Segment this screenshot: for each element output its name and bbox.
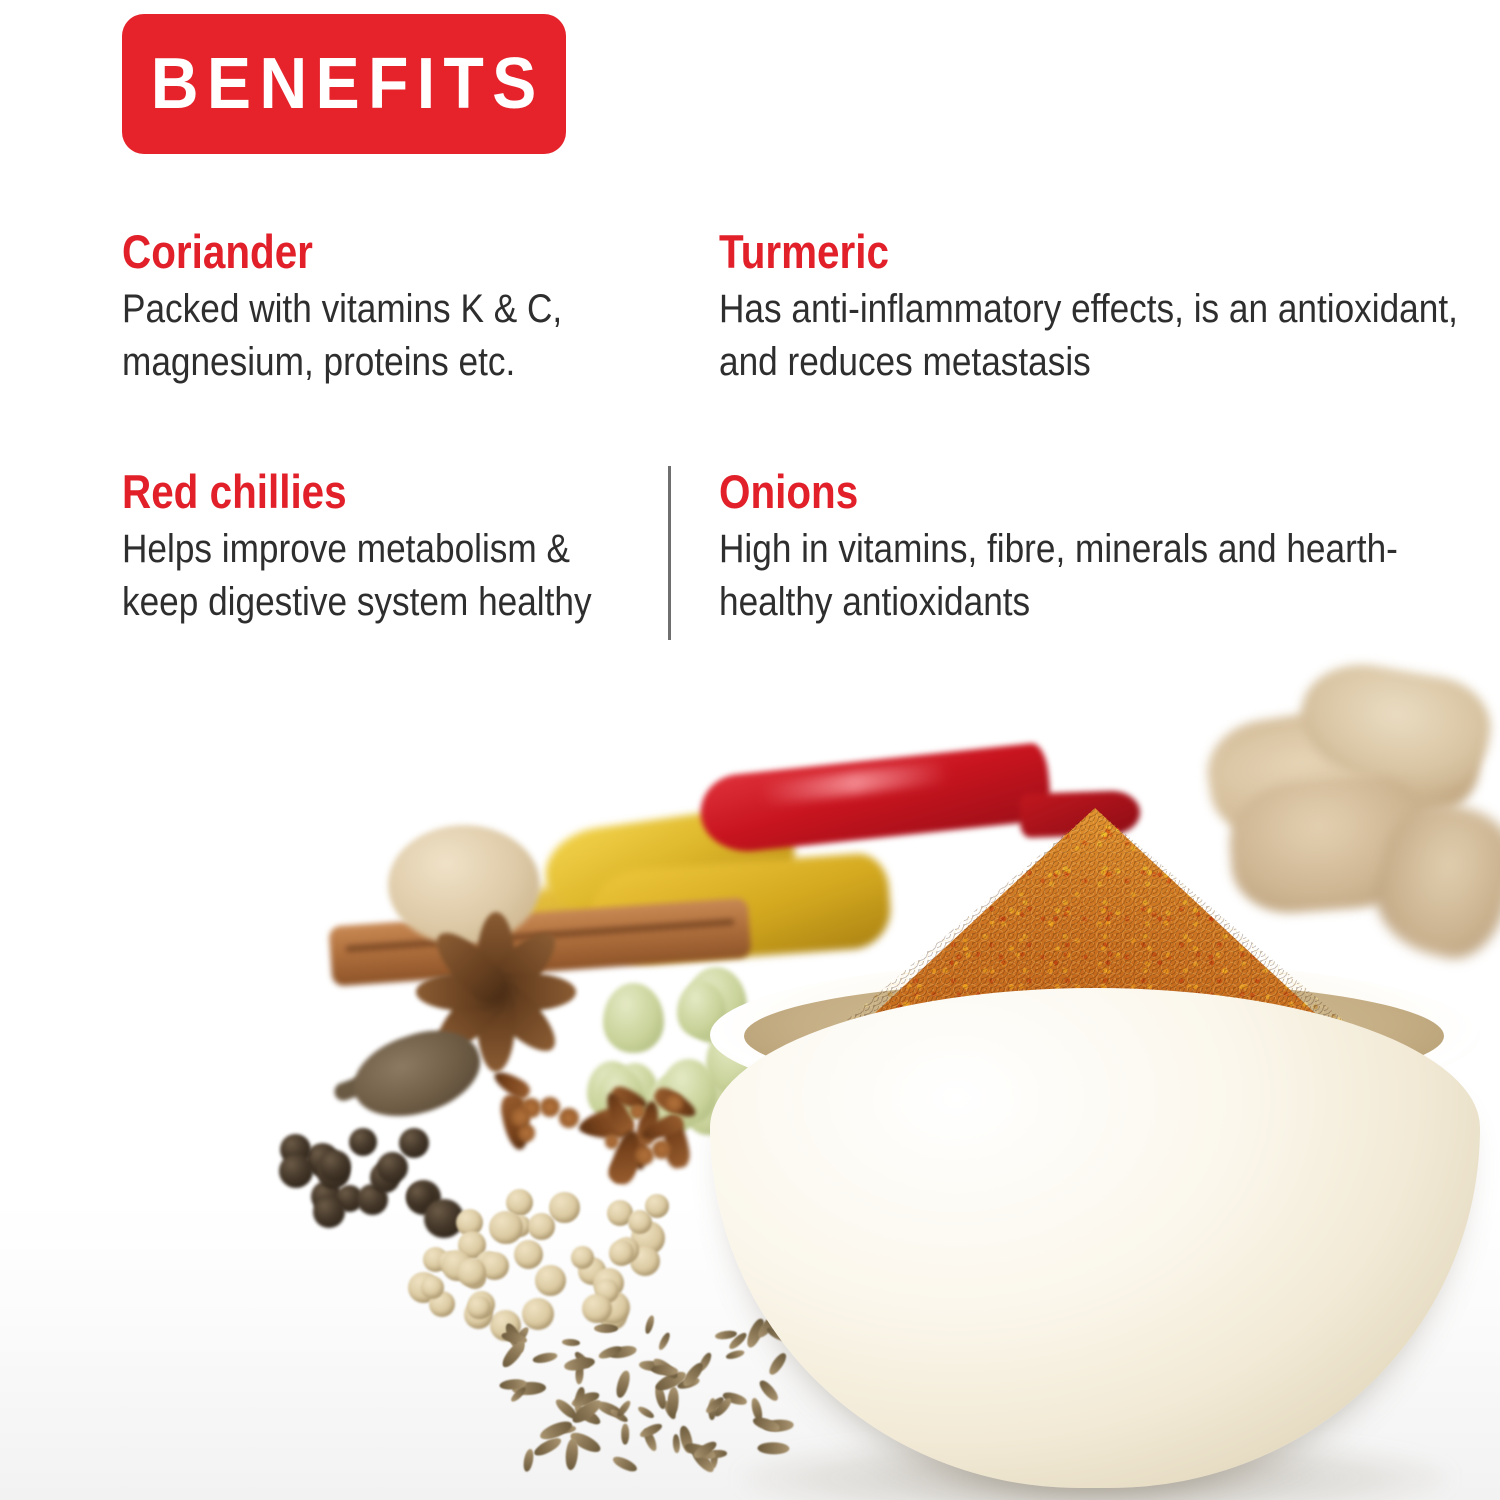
clove-head-icon — [511, 1107, 531, 1127]
coriander-seed-icon — [609, 1240, 635, 1266]
benefit-item-red-chillies: Red chillies Helps improve metabolism & … — [0, 468, 669, 628]
benefit-description-coriander: Packed with vitamins K & C, magnesium, p… — [122, 283, 651, 389]
black-peppercorn-icon — [349, 1128, 377, 1156]
clove-head-icon — [605, 1134, 620, 1149]
black-peppercorn-icon — [313, 1196, 345, 1228]
coriander-seed-icon — [489, 1211, 522, 1244]
bowl-body — [710, 988, 1480, 1488]
clove-head-icon — [630, 1104, 645, 1119]
benefits-banner: BENEFITS — [122, 14, 566, 154]
benefits-row-top: Coriander Packed with vitamins K & C, ma… — [0, 228, 1500, 468]
clove-head-icon — [540, 1097, 560, 1117]
clove-head-icon — [652, 1140, 670, 1158]
coriander-seed-icon — [582, 1294, 612, 1324]
coriander-seed-icon — [528, 1213, 555, 1240]
coriander-seed-icon — [514, 1240, 544, 1270]
benefits-row-bottom: Red chillies Helps improve metabolism & … — [0, 468, 1500, 668]
clove-head-icon — [518, 1124, 535, 1141]
black-peppercorn-icon — [319, 1150, 351, 1182]
benefit-title-coriander: Coriander — [122, 228, 575, 277]
benefit-description-onions: High in vitamins, fibre, minerals and he… — [719, 523, 1472, 629]
green-cardamom-icon — [603, 983, 663, 1053]
spice-product-photo — [0, 640, 1500, 1500]
benefits-infographic: BENEFITS Coriander Packed with vitamins … — [0, 0, 1500, 1500]
coriander-seed-icon — [457, 1258, 486, 1287]
black-peppercorn-icon — [399, 1128, 429, 1158]
ceramic-bowl — [700, 898, 1490, 1500]
coriander-seed-icon — [549, 1192, 579, 1222]
benefit-description-turmeric: Has anti-inflammatory effects, is an ant… — [719, 283, 1472, 389]
benefit-title-red-chillies: Red chillies — [122, 468, 575, 517]
benefit-item-onions: Onions High in vitamins, fibre, minerals… — [669, 468, 1500, 628]
benefit-title-onions: Onions — [719, 468, 1365, 517]
benefit-title-turmeric: Turmeric — [719, 228, 1365, 277]
benefit-item-turmeric: Turmeric Has anti-inflammatory effects, … — [669, 228, 1500, 388]
dried-red-chilli-icon — [697, 742, 1053, 856]
clove-head-icon — [559, 1108, 579, 1128]
benefit-item-coriander: Coriander Packed with vitamins K & C, ma… — [0, 228, 669, 388]
benefits-banner-label: BENEFITS — [143, 48, 544, 120]
black-peppercorn-icon — [377, 1152, 408, 1183]
coriander-seed-icon — [522, 1298, 554, 1330]
benefit-description-red-chillies: Helps improve metabolism & keep digestiv… — [122, 523, 651, 629]
coriander-seed-icon — [571, 1246, 594, 1269]
coriander-seed-icon — [535, 1265, 566, 1296]
black-peppercorn-icon — [279, 1154, 313, 1188]
coriander-seed-icon — [421, 1276, 444, 1299]
benefits-grid: Coriander Packed with vitamins K & C, ma… — [0, 228, 1500, 668]
clove-head-icon — [635, 1146, 654, 1165]
clove-head-icon — [665, 1094, 683, 1112]
